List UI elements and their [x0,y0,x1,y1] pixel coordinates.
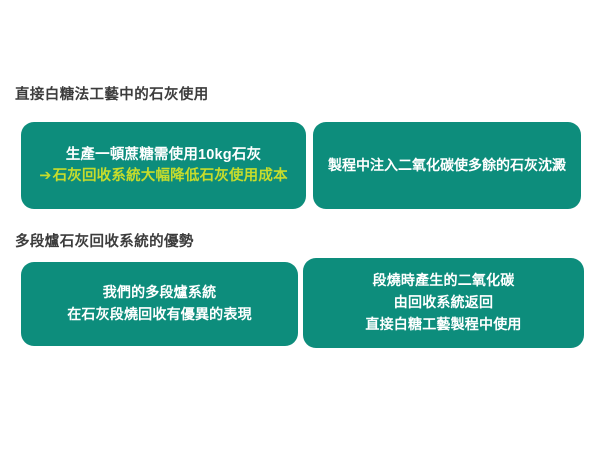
arrow-right-icon: ➔ [39,168,51,184]
card-co2-return-line-3: 直接白糖工藝製程中使用 [365,314,521,336]
card-co2-inject: 製程中注入二氧化碳使多餘的石灰沈澱 [313,122,581,209]
slide-canvas: 直接白糖法工藝中的石灰使用 生產一頓蔗糖需使用10kg石灰 ➔石灰回收系統大幅降… [0,0,600,450]
card-lime-usage-line-1: 生產一頓蔗糖需使用10kg石灰 [66,145,262,166]
card-lime-usage-line-2: ➔石灰回收系統大幅降低石灰使用成本 [39,166,288,187]
card-co2-return: 段燒時產生的二氧化碳 由回收系統返回 直接白糖工藝製程中使用 [303,258,584,348]
section-heading-furnace-advantages: 多段爐石灰回收系統的優勢 [15,235,194,250]
card-co2-return-line-1: 段燒時產生的二氧化碳 [373,270,515,292]
card-furnace-performance: 我們的多段爐系統 在石灰段燒回收有優異的表現 [21,262,298,346]
card-lime-usage-line-2-text: 石灰回收系統大幅降低石灰使用成本 [53,168,288,184]
card-furnace-performance-line-2: 在石灰段燒回收有優異的表現 [67,304,252,326]
card-furnace-performance-line-1: 我們的多段爐系統 [103,282,217,304]
card-co2-return-line-2: 由回收系統返回 [394,292,493,314]
section-heading-lime-usage: 直接白糖法工藝中的石灰使用 [15,88,209,103]
card-lime-usage: 生產一頓蔗糖需使用10kg石灰 ➔石灰回收系統大幅降低石灰使用成本 [21,122,306,209]
card-co2-inject-line-1: 製程中注入二氧化碳使多餘的石灰沈澱 [328,156,566,176]
